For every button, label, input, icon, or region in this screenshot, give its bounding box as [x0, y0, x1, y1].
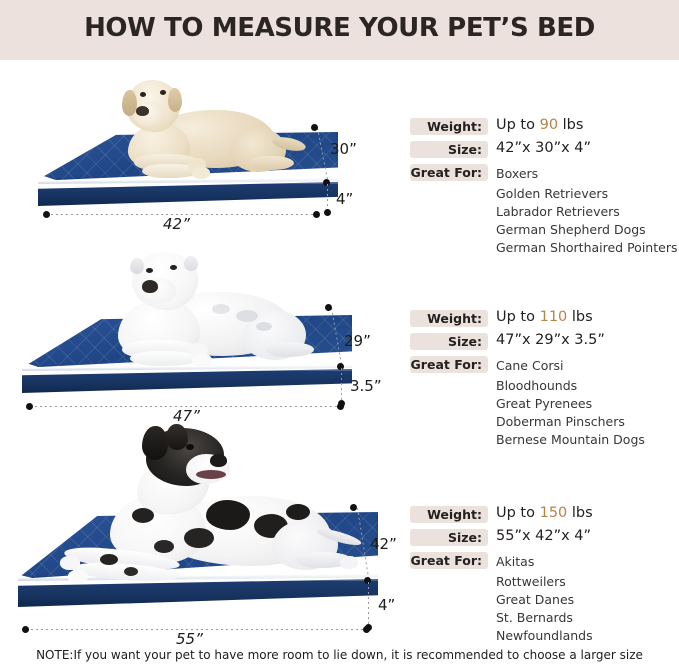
weight-label: Weight: [410, 310, 482, 327]
great-for-label: Great For: [410, 164, 482, 181]
breed-item: Newfoundlands [496, 628, 593, 643]
bed1-width-dot-right [313, 211, 320, 218]
bed3-depth-label: 42” [370, 535, 397, 553]
breed-row: Great Pyrenees [410, 393, 670, 411]
breed-item: Labrador Retrievers [496, 204, 620, 219]
bed1-height-dot-bottom [324, 209, 331, 216]
header-band: HOW TO MEASURE YOUR PET’S BED [0, 0, 679, 60]
size-value: 42”x 30”x 4” [496, 140, 591, 156]
spec-row-great-for: Great For: Boxers [410, 164, 670, 183]
bed2-depth-label: 29” [344, 332, 371, 350]
bed2-height-dot-bottom [338, 400, 345, 407]
breed-item: Bernese Mountain Dogs [496, 432, 645, 447]
breed-item: Akitas [496, 554, 534, 569]
bed1-width-dot-left [43, 211, 50, 218]
footer-note: NOTE:If you want your pet to have more r… [0, 648, 679, 662]
breed-row: German Shepherd Dogs [410, 219, 670, 237]
breed-row: Bloodhounds [410, 375, 670, 393]
weight-prefix: Up to [496, 117, 540, 133]
spec-row-great-for: Great For: Akitas [410, 552, 670, 571]
spec-row-great-for: Great For: Cane Corsi [410, 356, 670, 375]
bed3-height-dot-bottom [365, 624, 372, 631]
great-for-label: Great For: [410, 356, 482, 373]
spec-row-weight: Weight: Up to 150 lbs [410, 506, 670, 525]
weight-prefix: Up to [496, 505, 540, 521]
size-label: Size: [410, 333, 482, 350]
dog-white-shepherd [96, 248, 326, 368]
weight-number: 110 [540, 309, 568, 325]
breed-row: Labrador Retrievers [410, 201, 670, 219]
weight-value: Up to 110 lbs [496, 309, 593, 325]
breed-item: Great Danes [496, 592, 574, 607]
bed2-height-dimension-line [341, 368, 342, 404]
weight-prefix: Up to [496, 309, 540, 325]
bed-base-side [22, 369, 352, 393]
breed-row: German Shorthaired Pointers [410, 237, 670, 255]
breed-item: German Shorthaired Pointers [496, 240, 677, 255]
bed3-height-dimension-line [368, 582, 369, 628]
breed-row: Bernese Mountain Dogs [410, 429, 670, 447]
breed-item: Great Pyrenees [496, 396, 592, 411]
breed-row: Golden Retrievers [410, 183, 670, 201]
dog-great-dane [58, 424, 358, 599]
page-title: HOW TO MEASURE YOUR PET’S BED [0, 13, 679, 43]
spec-block-medium: Weight: Up to 110 lbs Size: 47”x 29”x 3.… [410, 310, 670, 447]
breed-row: St. Bernards [410, 607, 670, 625]
weight-value: Up to 150 lbs [496, 505, 593, 521]
spec-block-small: Weight: Up to 90 lbs Size: 42”x 30”x 4” … [410, 118, 670, 255]
breed-row: Rottweilers [410, 571, 670, 589]
bed3-width-dot-left [22, 626, 29, 633]
weight-label: Weight: [410, 118, 482, 135]
breed-item: St. Bernards [496, 610, 573, 625]
breed-item: Doberman Pinschers [496, 414, 625, 429]
weight-number: 150 [540, 505, 568, 521]
bed1-depth-label: 30” [330, 140, 357, 158]
bed2-height-label: 3.5” [350, 377, 382, 395]
bed3-depth-dot-top [350, 504, 357, 511]
bed3-height-label: 4” [378, 596, 395, 614]
spec-block-large: Weight: Up to 150 lbs Size: 55”x 42”x 4”… [410, 506, 670, 643]
weight-value: Up to 90 lbs [496, 117, 583, 133]
breed-item: Golden Retrievers [496, 186, 608, 201]
infographic-page: HOW TO MEASURE YOUR PET’S BED [0, 0, 679, 668]
bed1-depth-dot-top [311, 124, 318, 131]
spec-row-size: Size: 47”x 29”x 3.5” [410, 333, 670, 352]
spec-row-size: Size: 55”x 42”x 4” [410, 529, 670, 548]
bed3-width-label: 55” [176, 630, 203, 648]
spec-row-weight: Weight: Up to 90 lbs [410, 118, 670, 137]
spec-row-size: Size: 42”x 30”x 4” [410, 141, 670, 160]
breed-item: Bloodhounds [496, 378, 577, 393]
bed1-height-label: 4” [336, 190, 353, 208]
weight-number: 90 [540, 117, 558, 133]
great-for-label: Great For: [410, 552, 482, 569]
breed-row: Great Danes [410, 589, 670, 607]
breed-item: German Shepherd Dogs [496, 222, 646, 237]
breed-item: Cane Corsi [496, 358, 563, 373]
breed-item: Rottweilers [496, 574, 566, 589]
bed-base-side [38, 182, 338, 206]
size-label: Size: [410, 529, 482, 546]
dog-golden-labrador [112, 72, 302, 180]
bed1-width-label: 42” [163, 215, 190, 233]
size-label: Size: [410, 141, 482, 158]
size-value: 55”x 42”x 4” [496, 528, 591, 544]
bed2-depth-dot-top [325, 304, 332, 311]
weight-suffix: lbs [558, 117, 583, 133]
weight-label: Weight: [410, 506, 482, 523]
size-value: 47”x 29”x 3.5” [496, 332, 605, 348]
bed2-width-label: 47” [173, 407, 200, 425]
weight-suffix: lbs [567, 505, 592, 521]
breed-item: Boxers [496, 166, 538, 181]
spec-row-weight: Weight: Up to 110 lbs [410, 310, 670, 329]
weight-suffix: lbs [567, 309, 592, 325]
bed2-width-dot-left [26, 403, 33, 410]
breed-row: Doberman Pinschers [410, 411, 670, 429]
breed-row: Newfoundlands [410, 625, 670, 643]
